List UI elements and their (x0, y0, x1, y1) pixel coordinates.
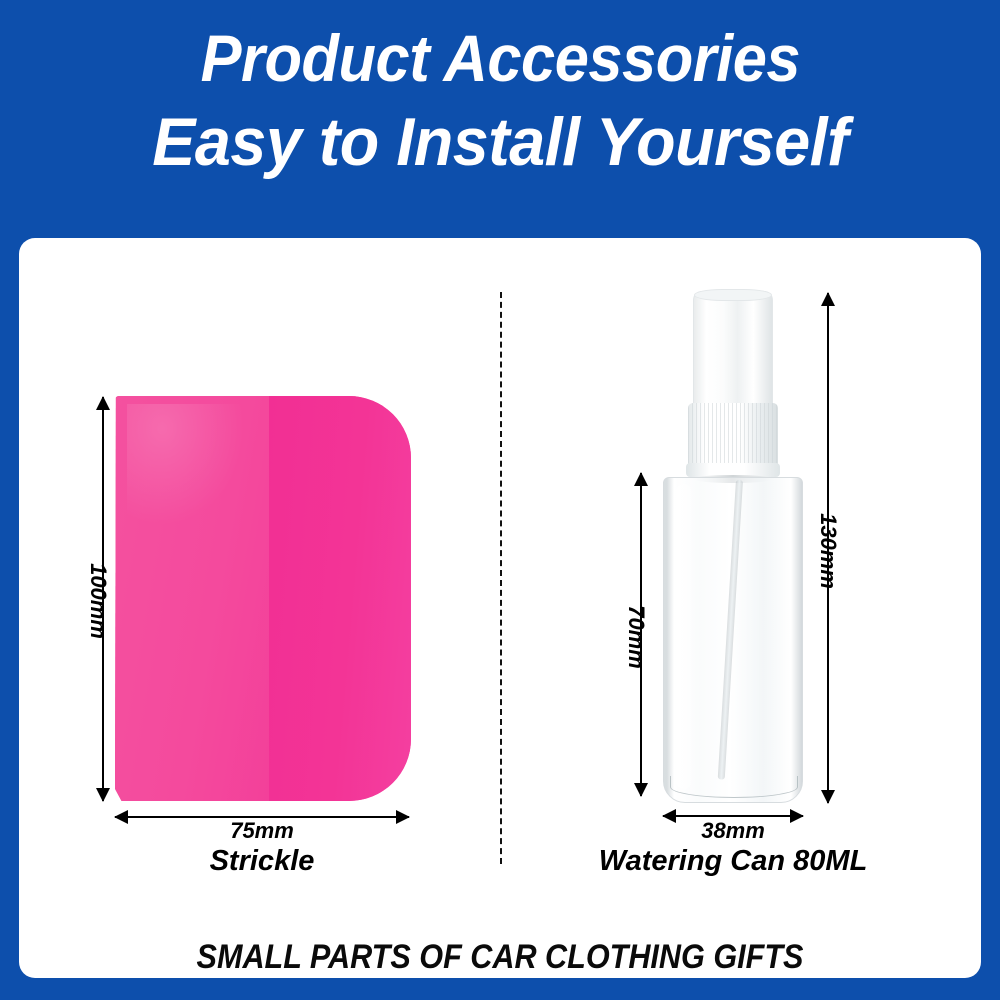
dimension-label-watering-can-width: 38mm (653, 818, 813, 844)
dimension-label-strickle-height: 100mm (85, 546, 111, 656)
dimension-label-watering-can-body-height: 70mm (623, 587, 649, 687)
product-infographic: Product Accessories Easy to Install Your… (0, 0, 1000, 1000)
dimension-label-watering-can-total-height: 130mm (815, 496, 841, 606)
footer-tagline: SMALL PARTS OF CAR CLOTHING GIFTS (50, 938, 950, 977)
strickle-body (115, 396, 411, 801)
arrow-down-icon (634, 783, 648, 797)
arrow-up-icon (634, 472, 648, 486)
header-banner: Product Accessories Easy to Install Your… (0, 0, 1000, 238)
strickle-dark-half (269, 396, 411, 801)
bottle-dip-tube (717, 480, 742, 780)
watering-can-image (663, 291, 803, 803)
bottle-overcap-top (694, 289, 772, 301)
dimension-line (663, 815, 803, 817)
arrow-down-icon (821, 790, 835, 804)
strickle-highlight (127, 404, 245, 526)
bottle-body (663, 477, 803, 803)
bottle-base-curve (670, 776, 798, 798)
strickle-image (115, 396, 411, 801)
headline-line-1: Product Accessories (200, 26, 800, 91)
bottle-highlight (676, 484, 692, 789)
arrow-up-icon (821, 292, 835, 306)
caption-watering-can: Watering Can 80ML (573, 845, 893, 878)
caption-strickle: Strickle (115, 845, 409, 878)
arrow-up-icon (96, 396, 110, 410)
bottle-ribbed-collar (688, 403, 778, 471)
headline-line-2: Easy to Install Yourself (152, 109, 848, 176)
bottle-overcap (693, 291, 773, 408)
arrow-down-icon (96, 788, 110, 802)
dimension-label-strickle-width: 75mm (115, 818, 409, 844)
